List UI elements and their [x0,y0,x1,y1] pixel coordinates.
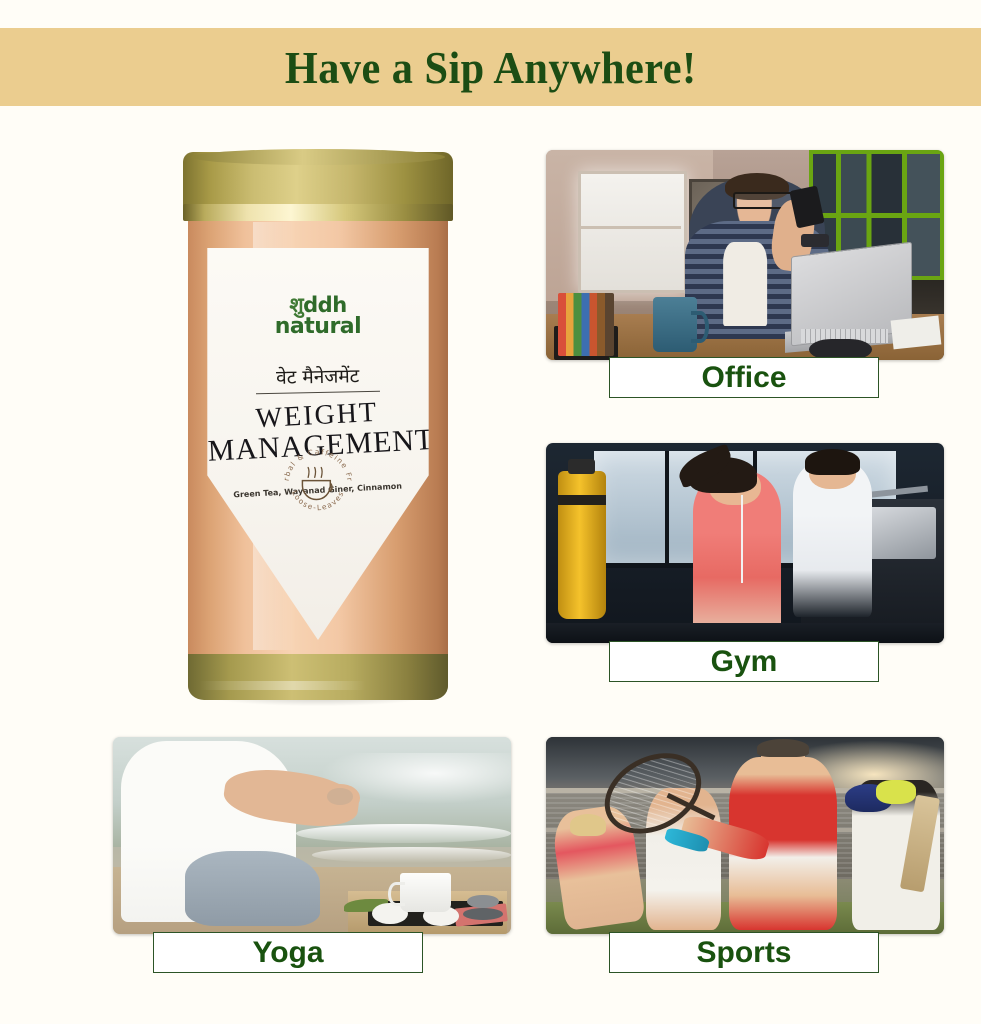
header-banner: Have a Sip Anywhere! [0,28,981,106]
sports-photo [546,737,944,934]
panel-gym[interactable] [546,443,944,643]
panel-office[interactable] [546,150,944,360]
caption-yoga[interactable]: Yoga [153,932,423,973]
product-jar: शुddh natural वेट मैनेजमेंट WEIGHT MANAG… [183,152,453,700]
office-white-tank [723,242,767,326]
svg-text:Loose-Leaves: Loose-Leaves [290,489,346,512]
jar-lid-top [191,149,445,165]
jar-lid-rim [183,204,453,221]
office-papers [891,316,942,350]
brand-logo-line2: natural [207,317,428,338]
gym-photo [546,443,944,643]
caption-gym-label: Gym [711,647,778,677]
sports-footballer-hair [757,739,809,757]
product-title-hindi: वेट मैनेजमेंट [207,361,429,392]
caption-yoga-label: Yoga [252,938,323,968]
caption-office[interactable]: Office [609,357,879,398]
promo-page: Have a Sip Anywhere! शुddh natural वेट म… [0,0,981,1024]
yoga-photo [113,737,511,934]
sports-runner-hair [570,814,606,836]
brand-logo: शुddh natural [207,296,428,338]
title-divider [256,391,380,395]
caption-office-label: Office [701,363,786,393]
gym-treadmill-console [864,507,936,559]
office-shelf-divider [809,213,944,218]
product-seal-badge: Herbal & Caffeine Free Loose-Leaves [277,438,359,520]
panel-yoga[interactable] [113,737,511,934]
gym-floor [546,623,944,643]
yoga-wave [312,847,511,863]
caption-sports[interactable]: Sports [609,932,879,973]
page-title: Have a Sip Anywhere! [285,41,697,94]
office-mug [653,297,697,352]
caption-sports-label: Sports [696,938,791,968]
office-pencils [558,293,614,356]
cricket-glove-icon [876,780,916,804]
office-photo [546,150,944,360]
gym-bag-strap [558,495,606,505]
earphone-wire-icon [741,495,743,583]
teacup-icon [400,873,452,912]
watch-icon [801,234,829,247]
caption-gym[interactable]: Gym [609,641,879,682]
jar-lid [183,152,453,208]
jar-base-ring [188,654,447,700]
svg-text:Herbal & Caffeine Free: Herbal & Caffeine Free [277,438,354,482]
brand-logo-line1: शुddh [207,296,428,316]
jar-base-shine [199,681,437,690]
office-window [578,171,687,293]
panel-sports[interactable] [546,737,944,934]
gym-window-mullion [665,451,669,563]
gym-man-hair [805,449,861,475]
teacup-icon: Herbal & Caffeine Free Loose-Leaves [277,438,359,520]
punching-bag-icon [558,471,606,619]
yoga-mudra-hand [320,784,360,812]
office-window-bar [578,226,681,229]
yoga-person-pants [185,851,320,926]
